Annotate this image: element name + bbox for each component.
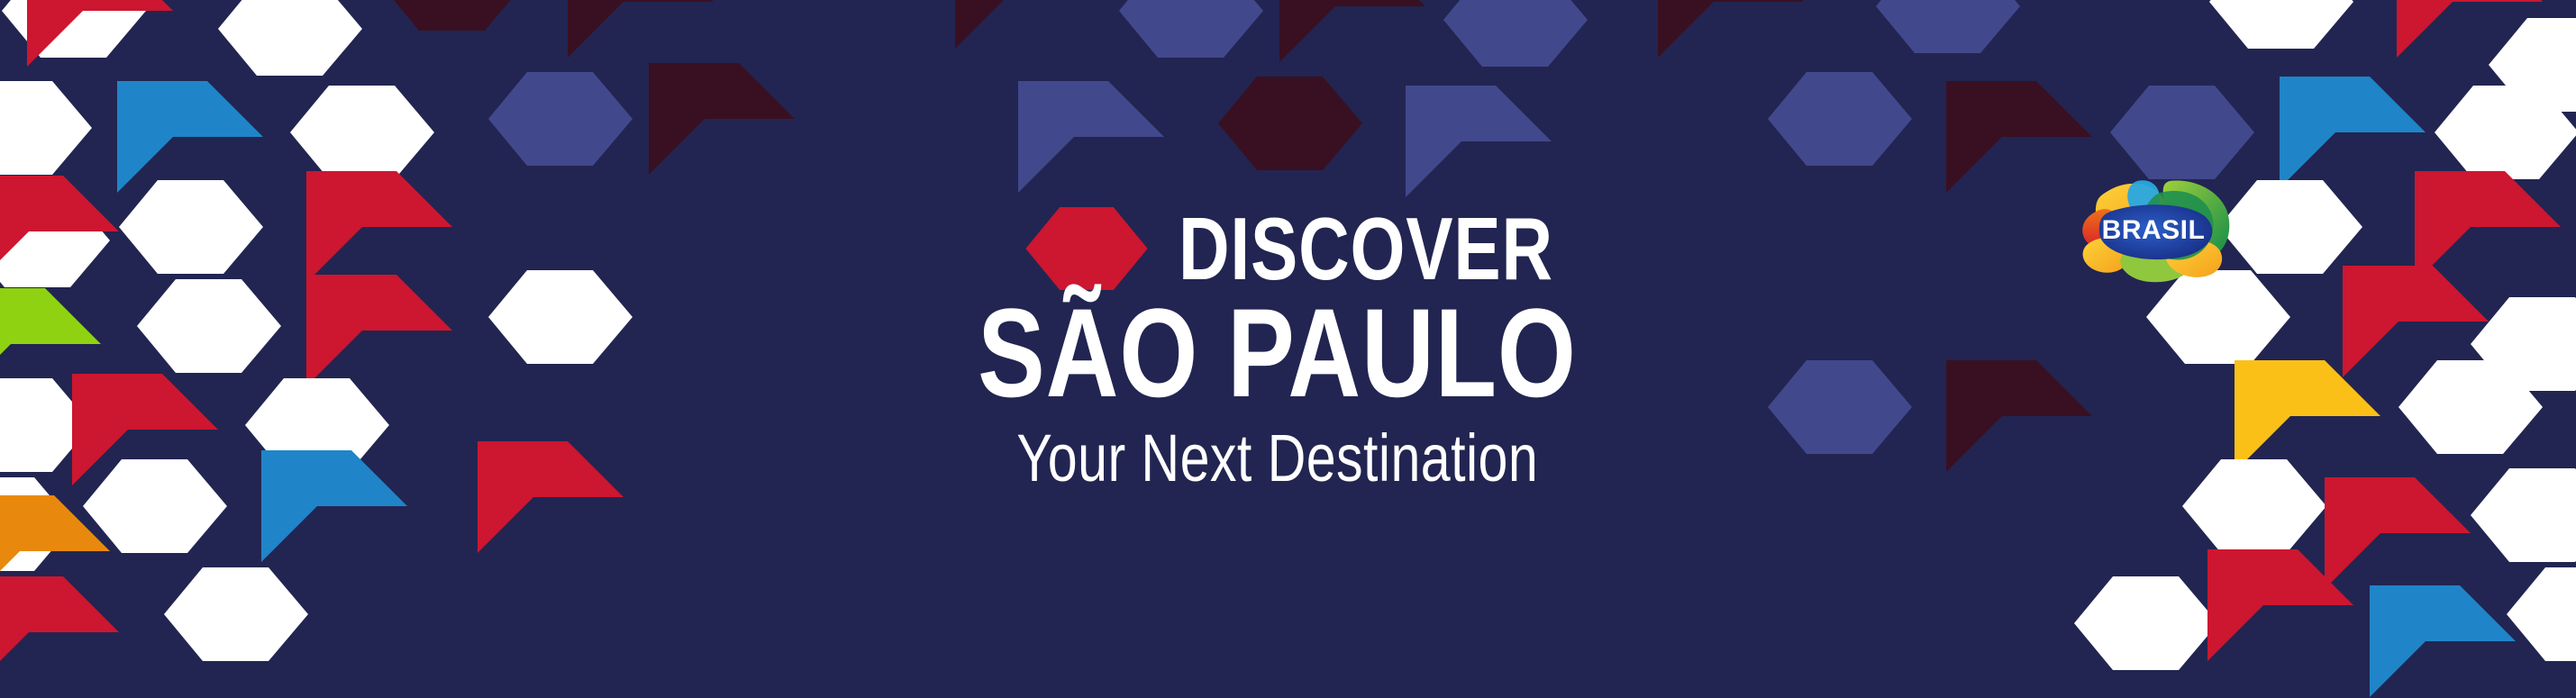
geometric-background-pattern xyxy=(0,0,2576,698)
discover-sao-paulo-banner: DISCOVER SÃO PAULO Your Next Destination xyxy=(0,0,2576,698)
brasil-tourism-logo: BRASIL xyxy=(2063,165,2244,286)
brasil-logo-label: BRASIL xyxy=(2102,215,2206,245)
